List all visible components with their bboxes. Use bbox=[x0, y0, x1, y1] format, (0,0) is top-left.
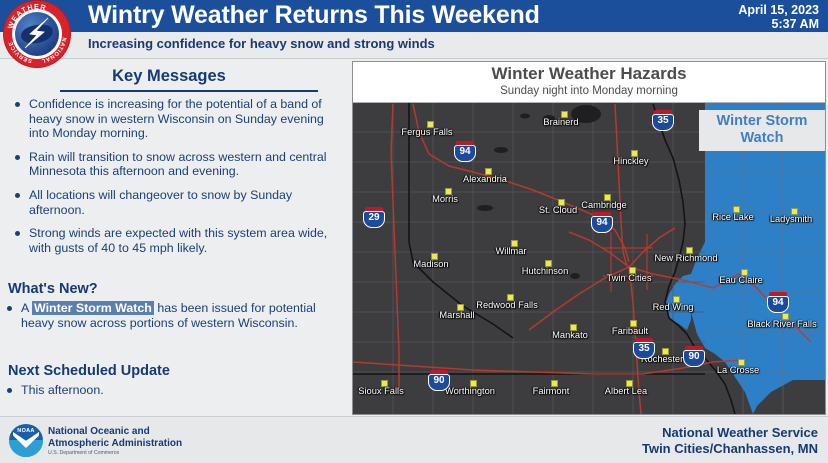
shield-number: 90 bbox=[428, 375, 450, 386]
city-label: Hinckley bbox=[613, 156, 648, 166]
shield-number: 94 bbox=[591, 217, 613, 228]
city-label: St. Cloud bbox=[539, 205, 577, 215]
city-label: New Richmond bbox=[654, 253, 717, 263]
whats-new-section: What's New? A Winter Storm Watch has bee… bbox=[0, 281, 348, 339]
noaa-logo-icon: NOAA bbox=[9, 424, 43, 457]
interstate-shield-icon: 35 bbox=[652, 110, 674, 131]
shield-number: 35 bbox=[652, 115, 674, 126]
interstate-shield-icon: 90 bbox=[683, 346, 705, 367]
city-label: La Crosse bbox=[717, 365, 759, 375]
header-bar: Wintry Weather Returns This Weekend Apri… bbox=[0, 0, 828, 32]
key-messages-panel: Key Messages Confidence is increasing fo… bbox=[0, 59, 348, 416]
issuance-time: 5:37 AM bbox=[738, 17, 819, 31]
hazard-map: Winter Weather Hazards Sunday night into… bbox=[352, 61, 826, 415]
subheader-bar: Increasing confidence for heavy snow and… bbox=[0, 32, 828, 59]
city-label: Faribault bbox=[612, 326, 648, 336]
shield-number: 90 bbox=[683, 351, 705, 362]
key-messages-list: Confidence is increasing for the potenti… bbox=[8, 97, 340, 264]
seal-ring-text: WEATHER NATIONAL SERVICE bbox=[4, 1, 70, 67]
interstate-shield-icon: 94 bbox=[454, 141, 476, 162]
noaa-line-1: National Oceanic and bbox=[48, 426, 182, 438]
heading-divider bbox=[60, 90, 318, 92]
national-weather-service-seal-icon: WEATHER NATIONAL SERVICE bbox=[4, 1, 70, 67]
next-update-heading: Next Scheduled Update bbox=[8, 363, 348, 379]
interstate-shield-icon: 29 bbox=[363, 207, 385, 228]
city-label: Twin Cities bbox=[607, 273, 652, 283]
list-item: Rain will transition to snow across west… bbox=[8, 150, 340, 179]
page-subtitle: Increasing confidence for heavy snow and… bbox=[88, 36, 435, 51]
interstate-shield-icon: 94 bbox=[767, 292, 789, 313]
city-label: Black River Falls bbox=[747, 319, 816, 329]
weather-briefing-graphic: Wintry Weather Returns This Weekend Apri… bbox=[0, 0, 828, 462]
shield-number: 94 bbox=[767, 297, 789, 308]
interstate-shield-icon: 94 bbox=[591, 212, 613, 233]
city-label: Eau Claire bbox=[719, 275, 762, 285]
noaa-agency-name: National Oceanic and Atmospheric Adminis… bbox=[48, 426, 182, 450]
list-item: All locations will changeover to snow by… bbox=[8, 188, 340, 217]
issuing-office: National Weather Service Twin Cities/Cha… bbox=[642, 425, 818, 456]
city-label: Cambridge bbox=[581, 200, 626, 210]
city-label: Alexandria bbox=[463, 174, 507, 184]
city-label: Marshall bbox=[439, 310, 474, 320]
office-line-2: Twin Cities/Chanhassen, MN bbox=[642, 441, 818, 457]
city-label: Brainerd bbox=[543, 117, 578, 127]
noaa-line-2: Atmospheric Administration bbox=[48, 438, 182, 450]
list-item: Confidence is increasing for the potenti… bbox=[8, 97, 340, 141]
list-item: A Winter Storm Watch has been issued for… bbox=[0, 301, 348, 330]
shield-number: 35 bbox=[633, 343, 655, 354]
winter-storm-watch-label: Winter Storm Watch bbox=[699, 110, 825, 151]
interstate-shield-icon: 90 bbox=[428, 370, 450, 391]
key-messages-heading: Key Messages bbox=[0, 67, 338, 86]
city-label: Willmar bbox=[496, 246, 527, 256]
map-title-bar: Winter Weather Hazards Sunday night into… bbox=[353, 62, 825, 103]
issuance-date: April 15, 2023 bbox=[738, 3, 819, 17]
winter-storm-watch-highlight: Winter Storm Watch bbox=[32, 301, 154, 315]
noaa-department: U.S. Department of Commerce bbox=[48, 450, 119, 456]
page-title: Wintry Weather Returns This Weekend bbox=[88, 1, 540, 30]
map-title: Winter Weather Hazards bbox=[353, 64, 825, 84]
city-label: Redwood Falls bbox=[476, 300, 538, 310]
city-label: Albert Lea bbox=[605, 386, 647, 396]
next-update-section: Next Scheduled Update This afternoon. bbox=[0, 363, 348, 407]
noaa-logo-text: NOAA bbox=[9, 428, 43, 434]
city-label: Madison bbox=[413, 259, 448, 269]
city-label: Fairmont bbox=[533, 386, 570, 396]
svg-text:NATIONAL: NATIONAL bbox=[40, 37, 66, 64]
city-label: Red Wing bbox=[653, 302, 694, 312]
footer-bar: NOAA National Oceanic and Atmospheric Ad… bbox=[0, 416, 828, 463]
city-label: Rice Lake bbox=[712, 212, 753, 222]
whats-new-prefix: A bbox=[21, 301, 32, 315]
city-label: Sioux Falls bbox=[358, 386, 403, 396]
city-label: Ladysmith bbox=[770, 214, 812, 224]
svg-text:WEATHER: WEATHER bbox=[6, 2, 48, 30]
interstate-shield-icon: 35 bbox=[633, 338, 655, 359]
shield-number: 94 bbox=[454, 146, 476, 157]
list-item: This afternoon. bbox=[0, 383, 348, 398]
city-label: Hutchinson bbox=[522, 266, 569, 276]
city-label: Mankato bbox=[552, 330, 588, 340]
city-label: Worthington bbox=[445, 386, 495, 396]
map-subtitle: Sunday night into Monday morning bbox=[353, 85, 825, 97]
issuance-datetime: April 15, 2023 5:37 AM bbox=[738, 3, 819, 31]
whats-new-heading: What's New? bbox=[8, 281, 348, 297]
city-label: Fergus Falls bbox=[401, 127, 452, 137]
list-item: Strong winds are expected with this syst… bbox=[8, 226, 340, 255]
svg-text:SERVICE: SERVICE bbox=[8, 40, 33, 63]
office-line-1: National Weather Service bbox=[642, 425, 818, 441]
shield-number: 29 bbox=[363, 212, 385, 223]
city-label: Morris bbox=[432, 194, 458, 204]
